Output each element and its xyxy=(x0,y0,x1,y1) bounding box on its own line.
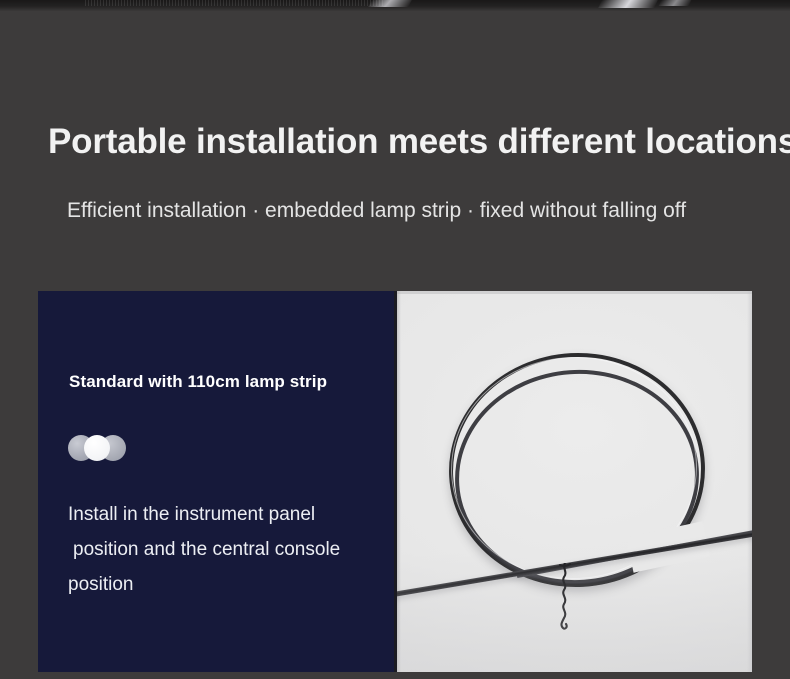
banner-fragment-texture xyxy=(85,0,385,6)
feature-card: Standard with 110cm lamp strip Install i… xyxy=(38,291,752,672)
info-panel-body-line-1: Install in the instrument panel xyxy=(68,497,388,532)
info-panel-title: Standard with 110cm lamp strip xyxy=(69,372,327,392)
color-swatch-group xyxy=(68,435,188,461)
top-banner-fragment xyxy=(0,0,790,11)
info-panel-body-line-2: position and the central console xyxy=(68,532,388,567)
dot-center-icon xyxy=(84,435,110,461)
info-panel: Standard with 110cm lamp strip Install i… xyxy=(38,291,394,672)
banner-fragment-highlight-1 xyxy=(368,0,412,7)
banner-fragment-highlight-3 xyxy=(659,0,692,6)
page-subtitle: Efficient installation · embedded lamp s… xyxy=(67,196,787,226)
banner-fragment-highlight-2 xyxy=(598,0,658,8)
product-photo xyxy=(397,291,752,672)
info-panel-body-line-3: position xyxy=(68,567,388,602)
info-panel-body: Install in the instrument panel position… xyxy=(68,497,388,602)
photo-bottom-shading xyxy=(397,552,752,672)
page-title: Portable installation meets different lo… xyxy=(48,119,778,165)
